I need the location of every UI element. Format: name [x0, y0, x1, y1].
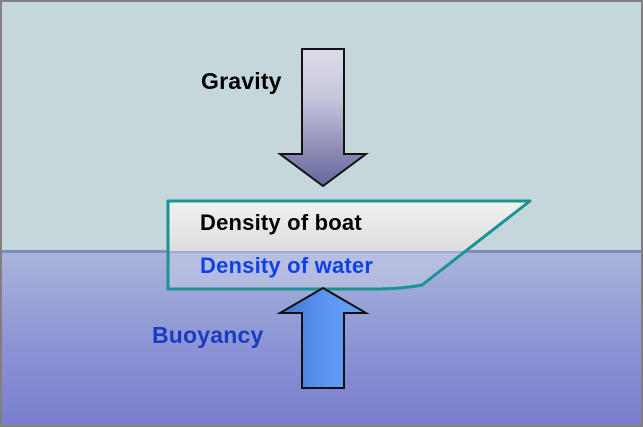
gravity-arrow: [280, 49, 366, 186]
density-of-water-label: Density of water: [200, 253, 373, 279]
buoyancy-arrow: [280, 288, 366, 388]
buoyancy-diagram: Gravity Buoyancy Density of boat Density…: [0, 0, 643, 427]
buoyancy-label: Buoyancy: [152, 322, 264, 349]
density-of-boat-label: Density of boat: [200, 210, 362, 236]
gravity-label: Gravity: [201, 68, 282, 95]
